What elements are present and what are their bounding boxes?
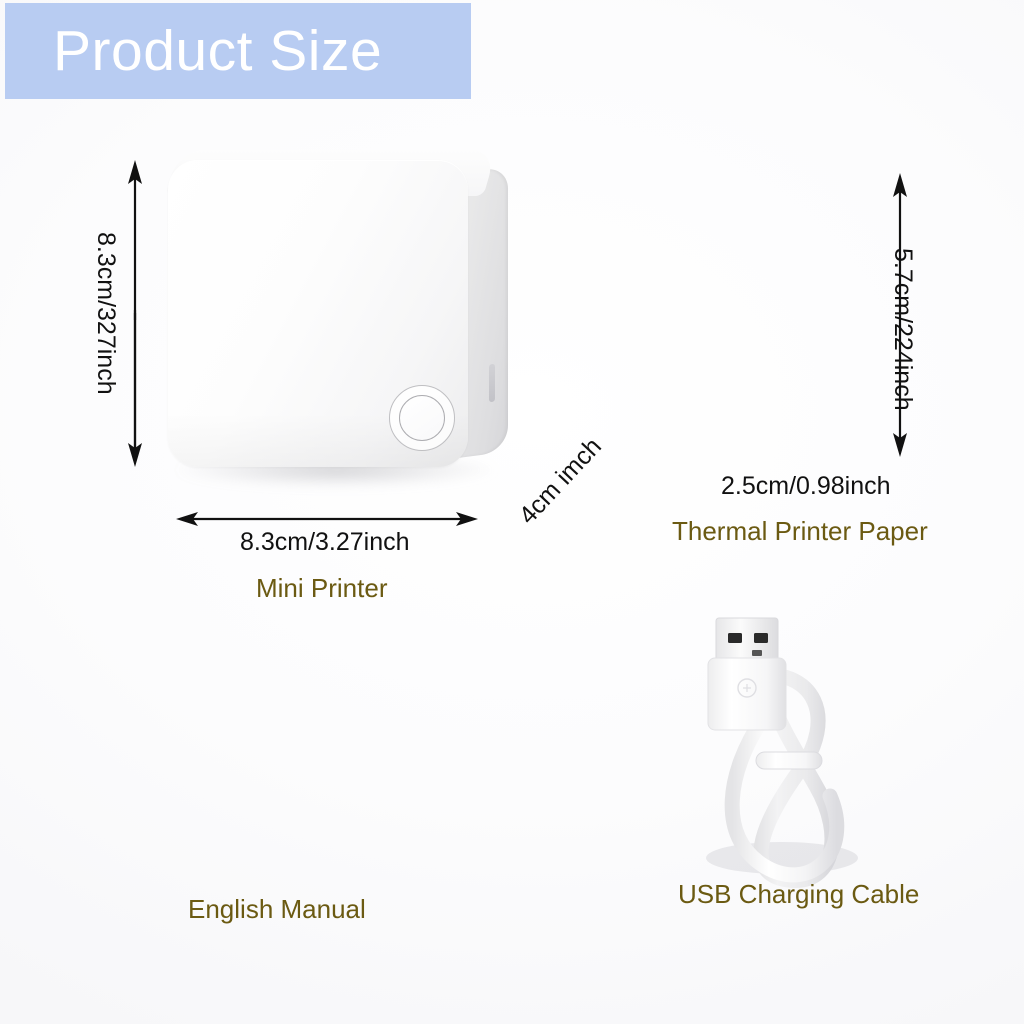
usb-cable-drawing: [640, 600, 970, 900]
printer-height-label: 8.3cm/327inch: [93, 232, 118, 395]
printer-height-arrow: [118, 150, 158, 480]
product-size-infographic: Product Size 8.3cm/327inch 8.3cm/3.27inc…: [0, 0, 1024, 1024]
caption-mini-printer: Mini Printer: [256, 574, 387, 603]
printer-side-slot: [489, 364, 495, 403]
roll-width-label: 2.5cm/0.98inch: [721, 474, 891, 499]
printer-width-label: 8.3cm/3.27inch: [240, 530, 410, 555]
printer-power-button-inner-ring: [399, 395, 445, 441]
caption-thermal-printer-paper: Thermal Printer Paper: [672, 517, 928, 546]
usb-cable-illustration: [640, 600, 970, 900]
english-manual-illustration: MN1 Printer Manual: [150, 620, 480, 940]
caption-usb-charging-cable: USB Charging Cable: [678, 880, 919, 909]
roll-height-label: 5.7cm/224inch: [890, 248, 915, 411]
caption-english-manual: English Manual: [188, 895, 366, 924]
